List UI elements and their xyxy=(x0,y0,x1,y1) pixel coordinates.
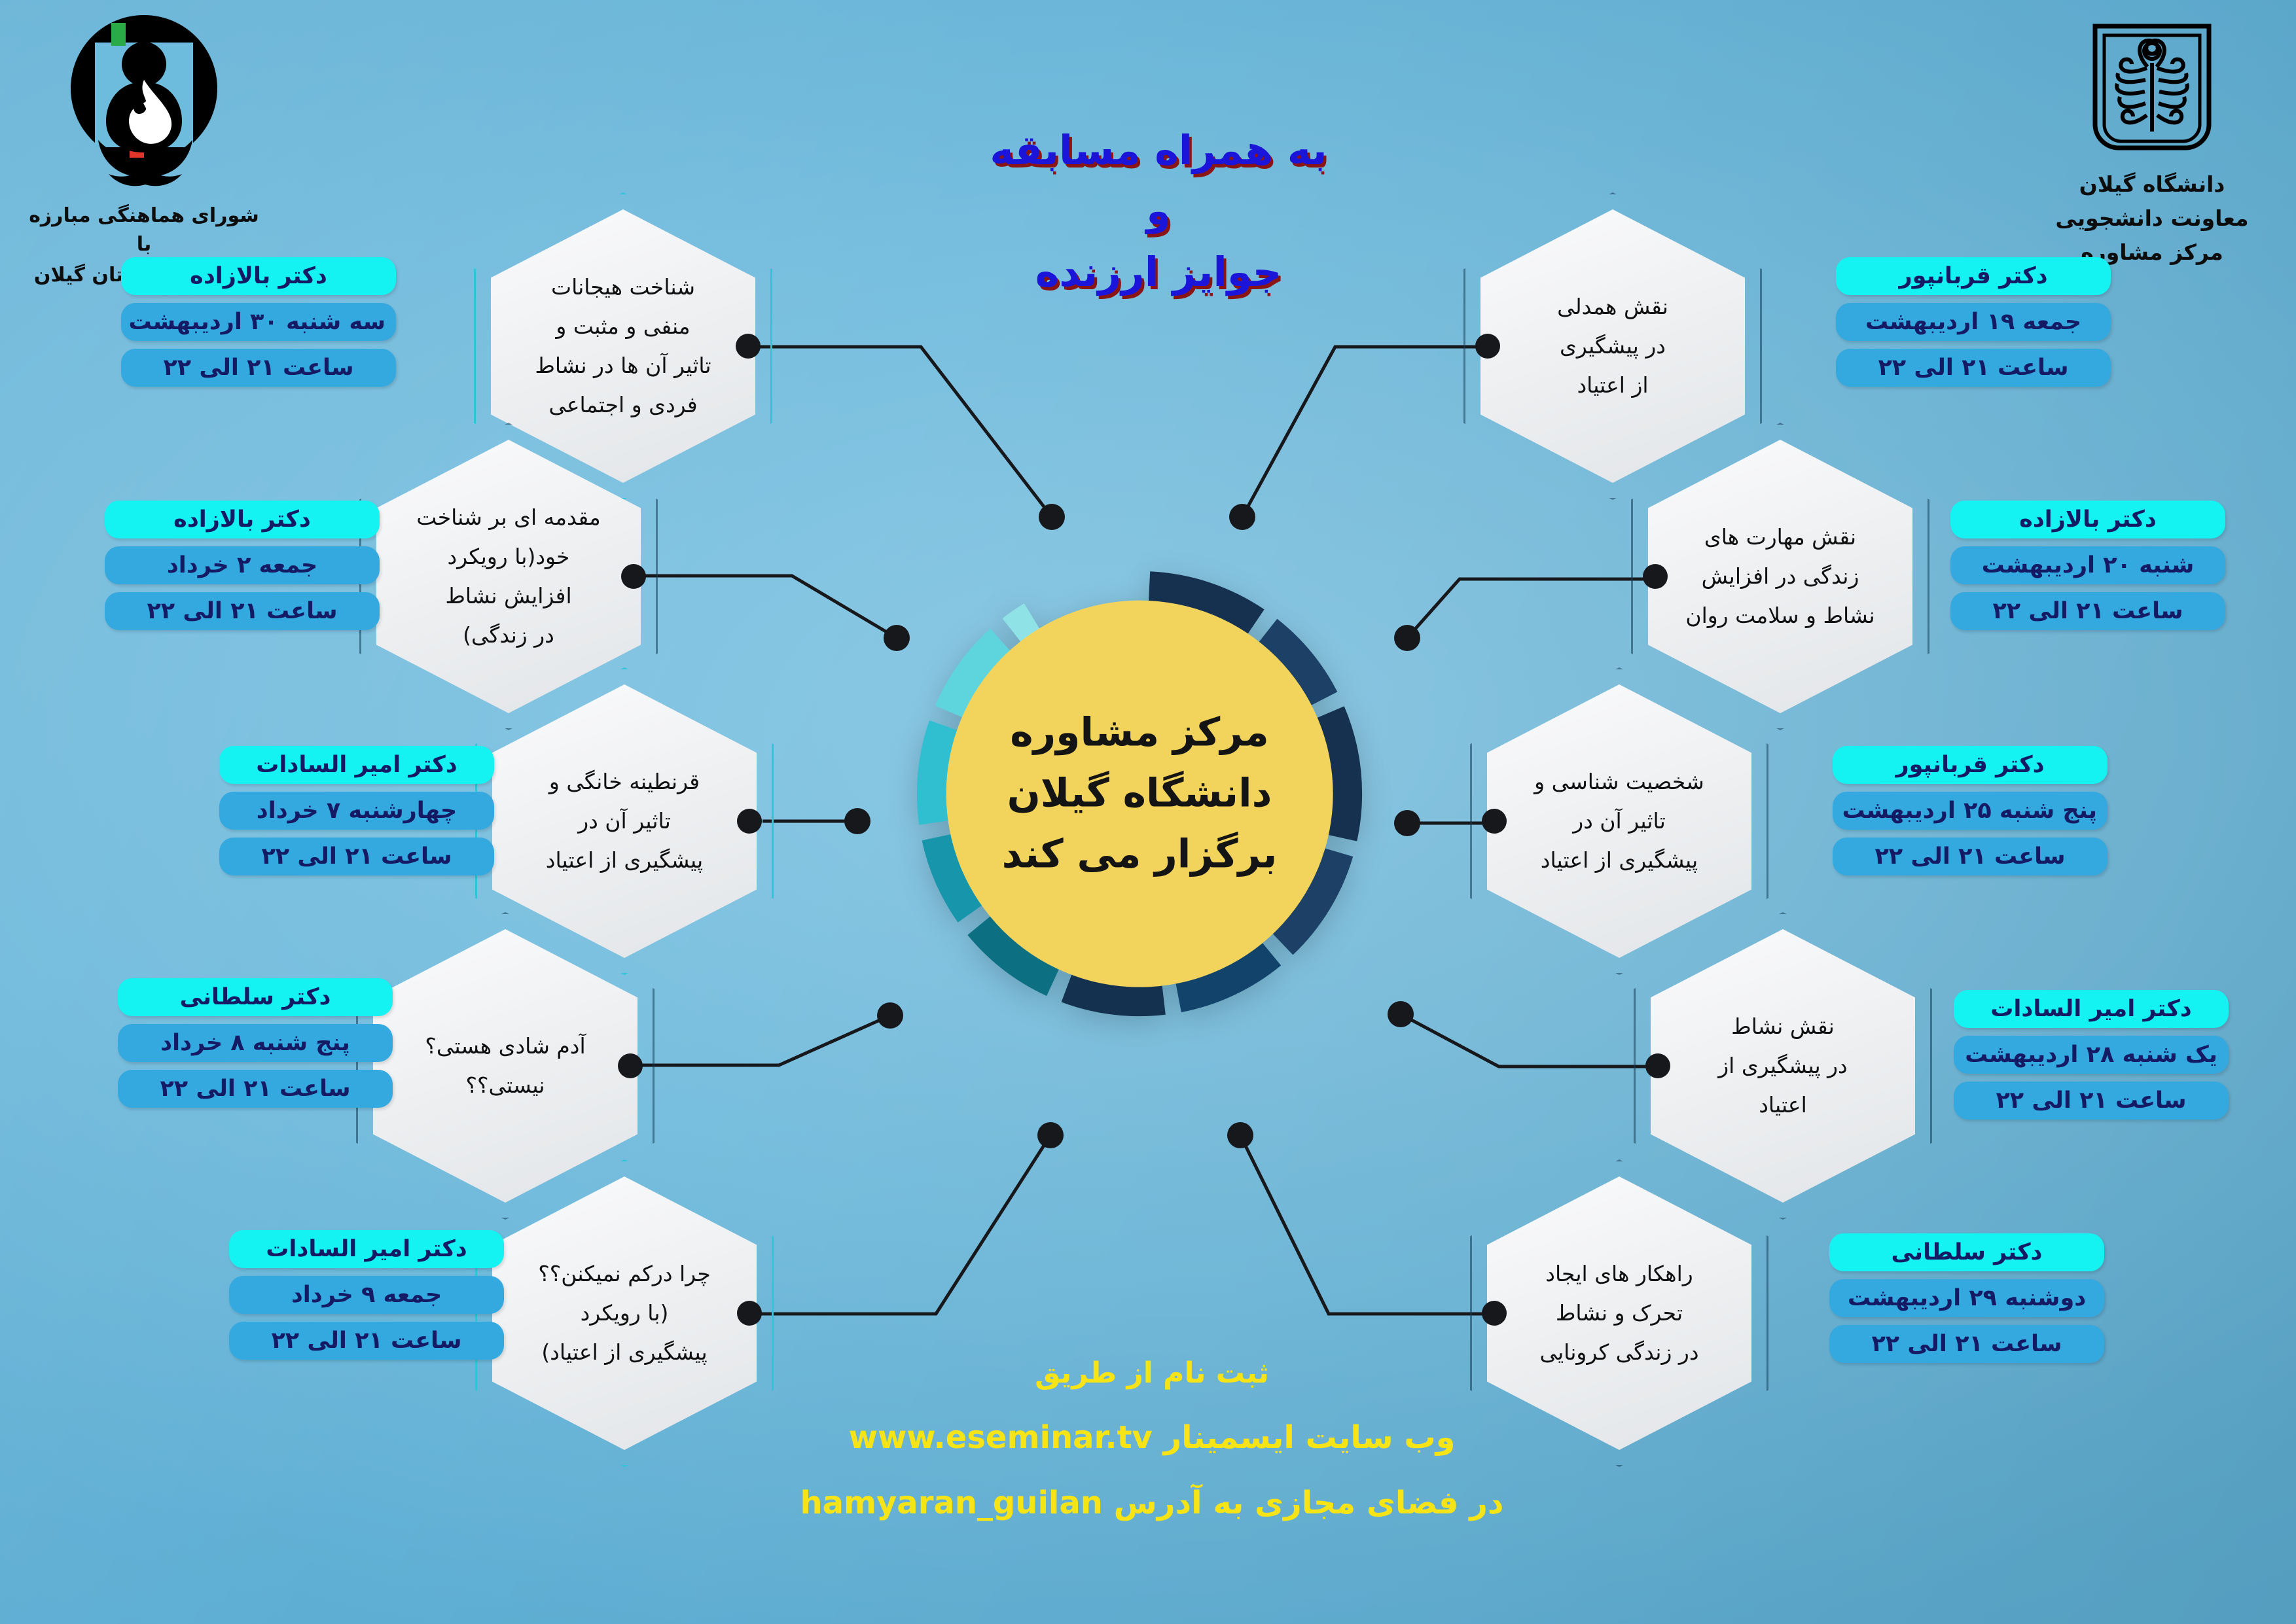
topic-hex-right-3[interactable]: شخصیت شناسی و تاثیر آن در پیشگیری از اعت… xyxy=(1487,684,1751,958)
headline: به همراه مسابقه و جوایز ارزنده xyxy=(903,124,1414,298)
session-info-right-5: دکتر سلطانی دوشنبه ۲۹ اردیبهشت ساعت ۲۱ ا… xyxy=(1829,1233,2104,1363)
topic-line: خود(با رویکرد xyxy=(410,537,607,576)
topic-hex-right-5-label: راهکار های ایجاد تحرک و نشاط در زندگی کر… xyxy=(1521,1254,1717,1372)
registration-block: ثبت نام از طریق وب سایت ایسمینار www.ese… xyxy=(753,1348,1551,1530)
connector-dot xyxy=(736,334,761,359)
session-info-right-1: دکتر قربانپور جمعه ۱۹ اردیبهشت ساعت ۲۱ ا… xyxy=(1836,257,2111,387)
headline-line1: به همراه مسابقه xyxy=(903,124,1414,176)
topic-hex-right-2[interactable]: نقش مهارت های زندگی در افزایش نشاط و سلا… xyxy=(1648,440,1912,713)
time-chip: ساعت ۲۱ الی ۲۲ xyxy=(1833,838,2108,875)
center-line3: برگزار می کند xyxy=(1002,824,1278,885)
time-chip: ساعت ۲۱ الی ۲۲ xyxy=(1836,349,2111,387)
time-chip: ساعت ۲۱ الی ۲۲ xyxy=(105,592,380,630)
topic-hex-right-4[interactable]: نقش نشاط در پیشگیری از اعتیاد xyxy=(1651,929,1915,1203)
date-chip: پنج شنبه ۲۵ اردیبهشت xyxy=(1833,792,2108,830)
topic-line: قرنطینه خانگی و xyxy=(526,762,723,802)
speaker-chip: دکتر امیر السادات xyxy=(219,746,494,784)
topic-line: در پیشگیری xyxy=(1515,327,1711,366)
logo-left-caption-line1: شورای هماهنگی مبارزه با xyxy=(20,202,268,258)
connector-dot xyxy=(1482,1301,1507,1326)
topic-hex-left-2[interactable]: مقدمه ای بر شناخت خود(با رویکرد افزایش ن… xyxy=(376,440,641,713)
topic-line: تاثیر آن ها در نشاط xyxy=(525,346,721,385)
topic-line: نقش همدلی xyxy=(1515,287,1711,327)
topic-hex-right-3-label: شخصیت شناسی و تاثیر آن در پیشگیری از اعت… xyxy=(1521,762,1717,880)
connector-dot xyxy=(737,1301,762,1326)
topic-line: نیستی؟؟ xyxy=(407,1066,603,1105)
center-donut: مرکز مشاوره دانشگاه گیلان برگزار می کند xyxy=(905,559,1374,1028)
logo-right-caption-line2: معاونت دانشجویی xyxy=(2028,203,2276,234)
topic-hex-left-5-label: چرا درکم نمیکنن؟؟ (با رویکرد پیشگیری از … xyxy=(526,1254,723,1372)
time-chip: ساعت ۲۱ الی ۲۲ xyxy=(219,838,494,875)
speaker-chip: دکتر امیر السادات xyxy=(1954,990,2229,1028)
time-chip: ساعت ۲۱ الی ۲۲ xyxy=(1829,1325,2104,1363)
session-info-right-4: دکتر امیر السادات یک شنبه ۲۸ اردیبهشت سا… xyxy=(1954,990,2229,1120)
date-chip: سه شنبه ۳۰ اردیبهشت xyxy=(121,303,396,341)
topic-line: از اعتیاد xyxy=(1515,366,1711,405)
topic-hex-left-4[interactable]: آدم شادی هستی؟ نیستی؟؟ xyxy=(373,929,637,1203)
center-circle: مرکز مشاوره دانشگاه گیلان برگزار می کند xyxy=(946,601,1333,987)
session-info-right-2: دکتر بالازاده شنبه ۲۰ اردیبهشت ساعت ۲۱ ا… xyxy=(1950,501,2225,630)
topic-hex-left-5[interactable]: چرا درکم نمیکنن؟؟ (با رویکرد پیشگیری از … xyxy=(492,1176,757,1450)
speaker-chip: دکتر قربانپور xyxy=(1833,746,2108,784)
topic-line: چرا درکم نمیکنن؟؟ xyxy=(526,1254,723,1294)
speaker-chip: دکتر سلطانی xyxy=(118,978,393,1016)
connector-dot xyxy=(1482,809,1507,834)
topic-hex-right-1-label: نقش همدلی در پیشگیری از اعتیاد xyxy=(1515,287,1711,405)
topic-line: شخصیت شناسی و xyxy=(1521,762,1717,802)
session-info-left-3: دکتر امیر السادات چهارشنبه ۷ خرداد ساعت … xyxy=(219,746,494,875)
logo-right: دانشگاه گیلان معاونت دانشجویی مرکز مشاور… xyxy=(2028,12,2276,268)
date-chip: چهارشنبه ۷ خرداد xyxy=(219,792,494,830)
date-chip: شنبه ۲۰ اردیبهشت xyxy=(1950,546,2225,584)
topic-line: در پیشگیری از xyxy=(1685,1046,1881,1086)
date-chip: جمعه ۱۹ اردیبهشت xyxy=(1836,303,2111,341)
topic-line: راهکار های ایجاد xyxy=(1521,1254,1717,1294)
topic-hex-left-2-label: مقدمه ای بر شناخت خود(با رویکرد افزایش ن… xyxy=(410,498,607,655)
anti-narcotics-council-emblem xyxy=(46,7,242,196)
topic-hex-left-4-label: آدم شادی هستی؟ نیستی؟؟ xyxy=(407,1027,603,1105)
date-chip: جمعه ۲ خرداد xyxy=(105,546,380,584)
topic-line: مقدمه ای بر شناخت xyxy=(410,498,607,537)
topic-line: پیشگیری از اعتیاد xyxy=(1521,841,1717,880)
session-info-right-3: دکتر قربانپور پنج شنبه ۲۵ اردیبهشت ساعت … xyxy=(1833,746,2108,875)
topic-line: پیشگیری از اعتیاد xyxy=(526,841,723,880)
speaker-chip: دکتر بالازاده xyxy=(1950,501,2225,538)
university-of-guilan-emblem xyxy=(2081,12,2223,164)
topic-line: شناخت هیجانات xyxy=(525,268,721,307)
session-info-left-1: دکتر بالازاده سه شنبه ۳۰ اردیبهشت ساعت ۲… xyxy=(121,257,396,387)
topic-hex-left-3[interactable]: قرنطینه خانگی و تاثیر آن در پیشگیری از ا… xyxy=(492,684,757,958)
date-chip: جمعه ۹ خرداد xyxy=(229,1276,504,1314)
connector-dot xyxy=(1643,564,1668,589)
time-chip: ساعت ۲۱ الی ۲۲ xyxy=(121,349,396,387)
date-chip: پنج شنبه ۸ خرداد xyxy=(118,1024,393,1062)
speaker-chip: دکتر سلطانی xyxy=(1829,1233,2104,1271)
topic-line: آدم شادی هستی؟ xyxy=(407,1027,603,1066)
date-chip: یک شنبه ۲۸ اردیبهشت xyxy=(1954,1036,2229,1074)
headline-line3: جوایز ارزنده xyxy=(903,246,1414,298)
topic-line: در زندگی کرونایی xyxy=(1521,1333,1717,1372)
time-chip: ساعت ۲۱ الی ۲۲ xyxy=(1954,1082,2229,1120)
session-info-left-4: دکتر سلطانی پنج شنبه ۸ خرداد ساعت ۲۱ الی… xyxy=(118,978,393,1108)
registration-line2[interactable]: وب سایت ایسمینار www.eseminar.tv xyxy=(753,1410,1551,1465)
speaker-chip: دکتر بالازاده xyxy=(121,257,396,295)
topic-line: نقش نشاط xyxy=(1685,1007,1881,1046)
topic-hex-left-1-label: شناخت هیجانات منفی و مثبت و تاثیر آن ها … xyxy=(525,268,721,425)
connector-dot xyxy=(1475,334,1500,359)
topic-line: نقش مهارت های xyxy=(1682,518,1878,557)
speaker-chip: دکتر بالازاده xyxy=(105,501,380,538)
topic-line: تاثیر آن در xyxy=(1521,802,1717,841)
topic-line: تحرک و نشاط xyxy=(1521,1294,1717,1333)
date-chip: دوشنبه ۲۹ اردیبهشت xyxy=(1829,1279,2104,1317)
topic-line: منفی و مثبت و xyxy=(525,307,721,346)
connector-dot xyxy=(621,564,646,589)
topic-hex-right-4-label: نقش نشاط در پیشگیری از اعتیاد xyxy=(1685,1007,1881,1125)
topic-line: پیشگیری از اعتیاد) xyxy=(526,1333,723,1372)
topic-line: افزایش نشاط xyxy=(410,576,607,616)
topic-line: (با رویکرد xyxy=(526,1294,723,1333)
topic-hex-left-3-label: قرنطینه خانگی و تاثیر آن در پیشگیری از ا… xyxy=(526,762,723,880)
connector-dot xyxy=(1645,1053,1670,1078)
connector-dot xyxy=(737,809,762,834)
topic-line: در زندگی) xyxy=(410,616,607,655)
logo-right-caption-line1: دانشگاه گیلان xyxy=(2028,169,2276,200)
center-line2: دانشگاه گیلان xyxy=(1002,764,1278,824)
topic-hex-right-2-label: نقش مهارت های زندگی در افزایش نشاط و سلا… xyxy=(1682,518,1878,635)
registration-line1: ثبت نام از طریق xyxy=(753,1348,1551,1398)
topic-line: تاثیر آن در xyxy=(526,802,723,841)
topic-line: زندگی در افزایش xyxy=(1682,557,1878,596)
topic-line: فردی و اجتماعی xyxy=(525,385,721,425)
speaker-chip: دکتر قربانپور xyxy=(1836,257,2111,295)
registration-line3[interactable]: در فضای مجازی به آدرس hamyaran_guilan xyxy=(753,1475,1551,1530)
time-chip: ساعت ۲۱ الی ۲۲ xyxy=(118,1070,393,1108)
headline-line2: و xyxy=(903,186,1414,237)
time-chip: ساعت ۲۱ الی ۲۲ xyxy=(229,1322,504,1360)
session-info-left-2: دکتر بالازاده جمعه ۲ خرداد ساعت ۲۱ الی ۲… xyxy=(105,501,380,630)
topic-line: نشاط و سلامت روان xyxy=(1682,596,1878,635)
speaker-chip: دکتر امیر السادات xyxy=(229,1230,504,1268)
topic-line: اعتیاد xyxy=(1685,1086,1881,1125)
connector-dot xyxy=(618,1053,643,1078)
center-line1: مرکز مشاوره xyxy=(1002,703,1278,764)
time-chip: ساعت ۲۱ الی ۲۲ xyxy=(1950,592,2225,630)
session-info-left-5: دکتر امیر السادات جمعه ۹ خرداد ساعت ۲۱ ا… xyxy=(229,1230,504,1360)
logo-left: شورای هماهنگی مبارزه با مواد مخدر استان … xyxy=(20,7,268,290)
